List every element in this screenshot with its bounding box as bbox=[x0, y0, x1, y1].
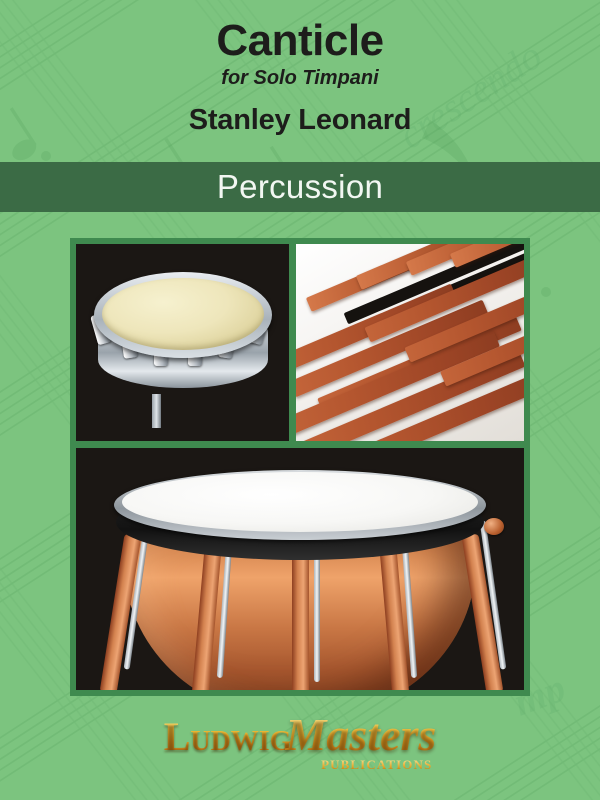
timpani-drumhead bbox=[122, 472, 478, 532]
category-band-label: Percussion bbox=[217, 168, 383, 206]
timpani-photo bbox=[76, 448, 524, 690]
publisher-wordmark: LudwigMasters PUBLICATIONS bbox=[164, 712, 437, 758]
marimba-photo bbox=[296, 244, 524, 441]
composer-name: Stanley Leonard bbox=[0, 90, 600, 137]
snare-drum-illustration bbox=[92, 270, 274, 398]
timpani-tuning-bolt bbox=[484, 518, 504, 535]
publisher-name-ludwig: Ludwig bbox=[164, 714, 292, 759]
page-subtitle: for Solo Timpani bbox=[0, 64, 600, 90]
timpani-leg bbox=[292, 548, 309, 690]
instrument-photo-collage bbox=[70, 238, 530, 696]
snare-drum-photo bbox=[76, 244, 289, 441]
page-title: Canticle bbox=[0, 0, 600, 64]
category-band: Percussion bbox=[0, 162, 600, 212]
publisher-tagline: PUBLICATIONS bbox=[321, 758, 432, 771]
publisher-logo: LudwigMasters PUBLICATIONS bbox=[0, 712, 600, 758]
cover-header: Canticle for Solo Timpani Stanley Leonar… bbox=[0, 0, 600, 137]
snare-drumhead bbox=[102, 278, 264, 350]
collage-top-row bbox=[76, 244, 524, 441]
snare-stand bbox=[152, 394, 161, 428]
publisher-name-masters: Masters bbox=[285, 709, 436, 760]
sheet-music-cover: crescendo mp Canticle for Solo Timpani S… bbox=[0, 0, 600, 800]
